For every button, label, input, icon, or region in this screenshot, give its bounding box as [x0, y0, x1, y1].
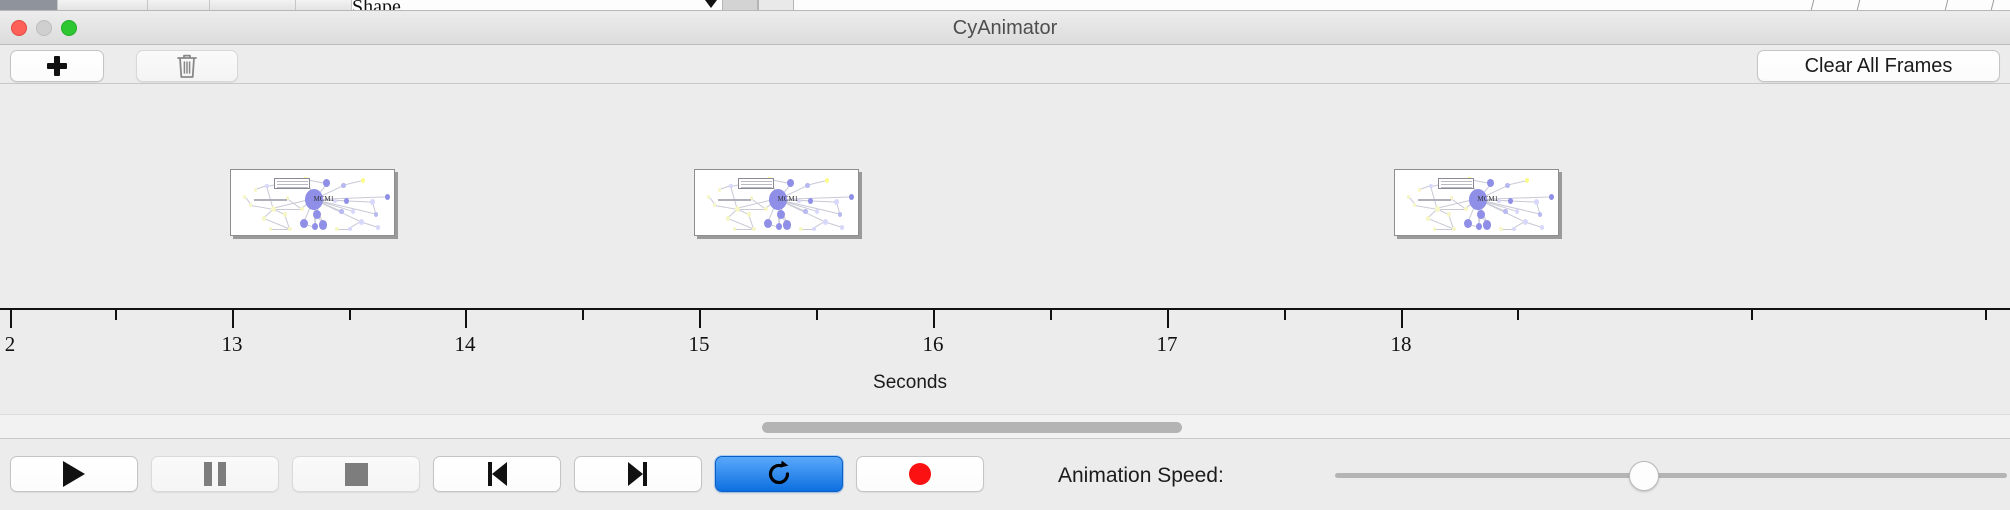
axis-tick-minor	[115, 310, 117, 320]
network-node	[840, 225, 844, 230]
network-node	[805, 183, 810, 189]
network-node	[361, 178, 365, 183]
network-node	[269, 227, 272, 230]
network-thumbnail: MCM1	[695, 170, 858, 235]
network-annotation-box	[274, 178, 310, 189]
network-edge	[251, 205, 274, 210]
skip-previous-button[interactable]	[433, 456, 561, 492]
trash-icon	[175, 53, 199, 79]
axis-title-text: Seconds	[873, 372, 947, 393]
network-node	[777, 210, 785, 219]
network-edge	[1507, 180, 1527, 186]
network-node	[764, 219, 772, 228]
network-node	[1540, 225, 1544, 230]
network-annotation-box	[1438, 178, 1474, 189]
background-chip	[758, 0, 794, 11]
network-thumbnail: MCM1	[231, 170, 394, 235]
network-node	[733, 227, 736, 230]
network-edge	[1438, 209, 1466, 210]
network-node	[764, 207, 768, 212]
network-node	[1413, 203, 1416, 206]
network-node	[729, 184, 733, 189]
loop-button[interactable]	[715, 456, 843, 492]
background-tab	[210, 0, 296, 11]
network-node	[823, 219, 828, 225]
axis-tick-label: 2	[5, 332, 16, 357]
background-window-label: Shape	[352, 0, 401, 11]
window-title: CyAnimator	[0, 11, 2010, 45]
network-node	[1534, 199, 1539, 205]
toolbar: Clear All Frames	[0, 45, 2010, 84]
network-node	[1515, 209, 1519, 214]
network-node	[783, 220, 791, 229]
playback-control-bar: Animation Speed:	[0, 440, 2010, 510]
network-node	[312, 223, 318, 230]
network-node	[313, 210, 321, 219]
clear-all-frames-button[interactable]: Clear All Frames	[1757, 50, 2000, 82]
network-annotation-line	[1441, 184, 1472, 185]
timeline-scrollbar-track[interactable]	[0, 414, 2010, 439]
network-hub-label: MCM1	[1478, 195, 1499, 203]
network-node	[265, 184, 269, 189]
network-node	[319, 220, 327, 229]
record-icon	[909, 463, 931, 485]
network-annotation-line	[254, 199, 287, 201]
background-tab	[296, 0, 352, 11]
network-annotation-line	[1441, 181, 1472, 182]
background-tab-selected	[0, 0, 58, 11]
axis-tick-minor	[1284, 310, 1286, 320]
skip-previous-icon	[484, 461, 510, 487]
pause-button[interactable]	[151, 456, 279, 492]
network-node	[376, 225, 380, 230]
network-hub-label: MCM1	[778, 195, 799, 203]
network-node	[374, 212, 378, 217]
delete-frame-button[interactable]	[136, 50, 238, 82]
axis-tick-major	[1401, 310, 1403, 328]
background-chip	[722, 0, 758, 11]
network-node	[1429, 184, 1433, 189]
network-annotation-line	[741, 181, 772, 182]
axis-tick-label: 14	[455, 332, 476, 357]
background-window: Shape	[0, 0, 2010, 11]
background-divider	[1810, 0, 1814, 11]
network-node	[1512, 227, 1516, 232]
network-node	[370, 199, 375, 205]
axis-tick-major	[232, 310, 234, 328]
network-node	[1549, 194, 1554, 200]
axis-tick-label: 17	[1157, 332, 1178, 357]
stop-button[interactable]	[292, 456, 420, 492]
background-divider	[1990, 0, 1994, 11]
record-button[interactable]	[856, 456, 984, 492]
background-divider	[1944, 0, 1948, 11]
axis-tick-label: 18	[1391, 332, 1412, 357]
loop-icon	[764, 459, 794, 489]
axis-tick-major	[1167, 310, 1169, 328]
network-node	[752, 227, 756, 232]
network-node	[1538, 212, 1542, 217]
network-node	[815, 209, 819, 214]
network-node	[359, 219, 364, 225]
network-node	[1525, 178, 1529, 183]
network-edge	[715, 205, 738, 210]
network-node	[726, 216, 730, 221]
axis-tick-minor	[582, 310, 584, 320]
play-icon	[63, 461, 85, 487]
skip-next-icon	[625, 461, 651, 487]
timeline-frame[interactable]: MCM1	[230, 169, 395, 236]
network-node	[351, 209, 355, 214]
network-node	[707, 195, 710, 198]
network-node	[1452, 227, 1456, 232]
network-annotation-line	[1441, 187, 1472, 188]
network-node	[799, 227, 803, 232]
network-edge	[274, 209, 302, 210]
network-node	[1487, 179, 1494, 187]
network-node	[713, 203, 716, 206]
network-node	[335, 227, 339, 232]
network-node	[787, 179, 794, 187]
network-node	[254, 188, 257, 191]
timeline-frame[interactable]: MCM1	[1394, 169, 1559, 236]
network-node	[1433, 227, 1436, 230]
network-edge	[738, 209, 766, 210]
network-node	[1418, 188, 1421, 191]
stop-icon	[345, 463, 368, 486]
network-node	[1499, 227, 1503, 232]
network-node	[341, 183, 346, 189]
axis-tick-minor	[1751, 310, 1753, 320]
network-node	[1464, 207, 1468, 212]
title-bar[interactable]: CyAnimator	[0, 11, 2010, 45]
network-node	[1426, 216, 1430, 221]
network-node	[849, 194, 854, 200]
network-node	[718, 188, 721, 191]
axis-tick-minor	[1517, 310, 1519, 320]
animation-speed-label: Animation Speed:	[1058, 464, 1224, 488]
axis-tick-major	[933, 310, 935, 328]
network-node	[1464, 219, 1472, 228]
add-frame-button[interactable]	[10, 50, 104, 82]
axis-tick-minor	[349, 310, 351, 320]
network-node	[1523, 219, 1528, 225]
network-node	[300, 219, 308, 228]
timeline-scrollbar-thumb[interactable]	[762, 422, 1182, 433]
axis-tick-minor	[1050, 310, 1052, 320]
network-thumbnail: MCM1	[1395, 170, 1558, 235]
axis-tick-major	[699, 310, 701, 328]
axis-title: Seconds	[0, 372, 2010, 394]
network-annotation-line	[277, 184, 308, 185]
background-tab	[148, 0, 210, 11]
network-node	[1476, 223, 1482, 230]
network-annotation-line	[1418, 199, 1451, 201]
network-node	[1477, 210, 1485, 219]
network-node	[812, 227, 816, 232]
skip-next-button[interactable]	[574, 456, 702, 492]
axis-tick-label: 16	[923, 332, 944, 357]
network-annotation-line	[277, 181, 308, 182]
network-node	[323, 179, 330, 187]
network-edge	[343, 180, 363, 186]
network-node	[385, 194, 390, 200]
animation-speed-slider-track[interactable]	[1335, 473, 2007, 478]
timeline-frame[interactable]: MCM1	[694, 169, 859, 236]
timeline-panel[interactable]: MCM1 MCM1 MCM1 2131415161718 Seconds	[0, 84, 2010, 414]
axis-tick-label: 13	[222, 332, 243, 357]
network-node	[300, 207, 304, 212]
background-caret-icon	[705, 0, 717, 8]
background-tab	[58, 0, 148, 11]
network-edge	[807, 180, 827, 186]
background-divider	[1856, 0, 1860, 11]
network-annotation-line	[741, 184, 772, 185]
network-edge	[1415, 205, 1438, 210]
axis-tick-label: 15	[689, 332, 710, 357]
network-node	[249, 203, 252, 206]
pause-icon	[204, 462, 226, 486]
network-node	[1407, 195, 1410, 198]
network-node	[838, 212, 842, 217]
network-node	[825, 178, 829, 183]
network-annotation-line	[741, 187, 772, 188]
network-node	[262, 216, 266, 221]
network-node	[776, 223, 782, 230]
network-node	[1508, 198, 1513, 204]
plus-icon	[47, 56, 67, 76]
network-node	[1447, 212, 1451, 217]
network-node	[808, 198, 813, 204]
axis-tick-major	[10, 310, 12, 328]
timeline-axis	[0, 308, 2010, 310]
network-node	[348, 227, 352, 232]
play-button[interactable]	[10, 456, 138, 492]
network-annotation-line	[277, 187, 308, 188]
network-hub-label: MCM1	[314, 195, 335, 203]
network-node	[747, 212, 751, 217]
axis-tick-minor	[1985, 310, 1987, 320]
animation-speed-slider-thumb[interactable]	[1629, 461, 1659, 491]
network-annotation-box	[738, 178, 774, 189]
network-node	[344, 198, 349, 204]
network-annotation-line	[718, 199, 751, 201]
network-node	[283, 212, 287, 217]
network-node	[243, 195, 246, 198]
network-node	[1483, 220, 1491, 229]
axis-tick-minor	[816, 310, 818, 320]
axis-tick-major	[465, 310, 467, 328]
network-node	[834, 199, 839, 205]
network-node	[288, 227, 292, 232]
network-node	[1505, 183, 1510, 189]
